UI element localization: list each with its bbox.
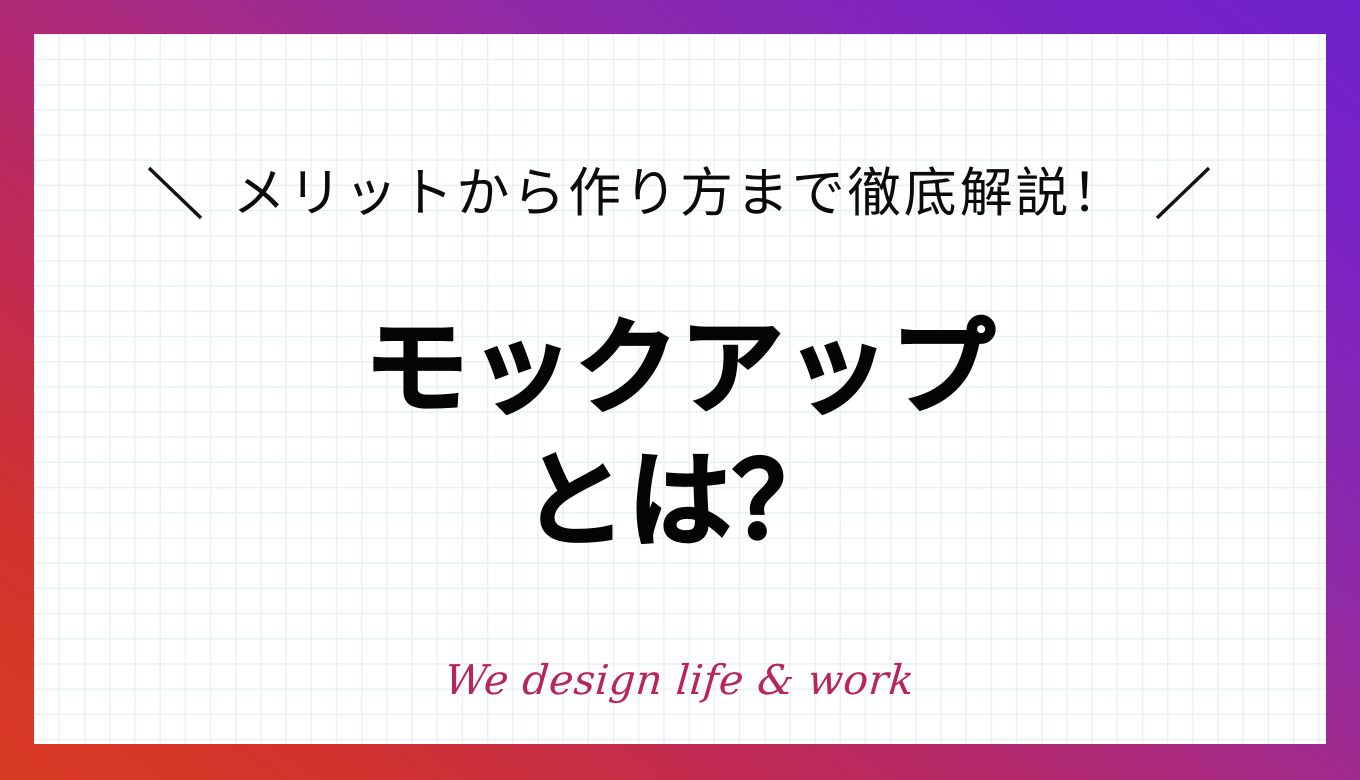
kicker-text: メリットから作り方まで徹底解説！ [233,167,1128,220]
thumbnail-canvas: メリットから作り方まで徹底解説！ モックアップ とは？ We design li… [0,0,1360,780]
tagline: We design life & work [34,660,1326,701]
page-title-line-2: とは？ [34,435,1326,568]
grid-paper-panel: メリットから作り方まで徹底解説！ モックアップ とは？ We design li… [34,34,1326,744]
backslash-decoration-icon [145,162,207,224]
page-title-line-1: モックアップ [34,302,1326,435]
kicker-row: メリットから作り方まで徹底解説！ [34,162,1326,224]
page-title: モックアップ とは？ [34,302,1326,568]
tagline-text: We design life & work [444,660,917,701]
forwardslash-decoration-icon [1153,162,1215,224]
